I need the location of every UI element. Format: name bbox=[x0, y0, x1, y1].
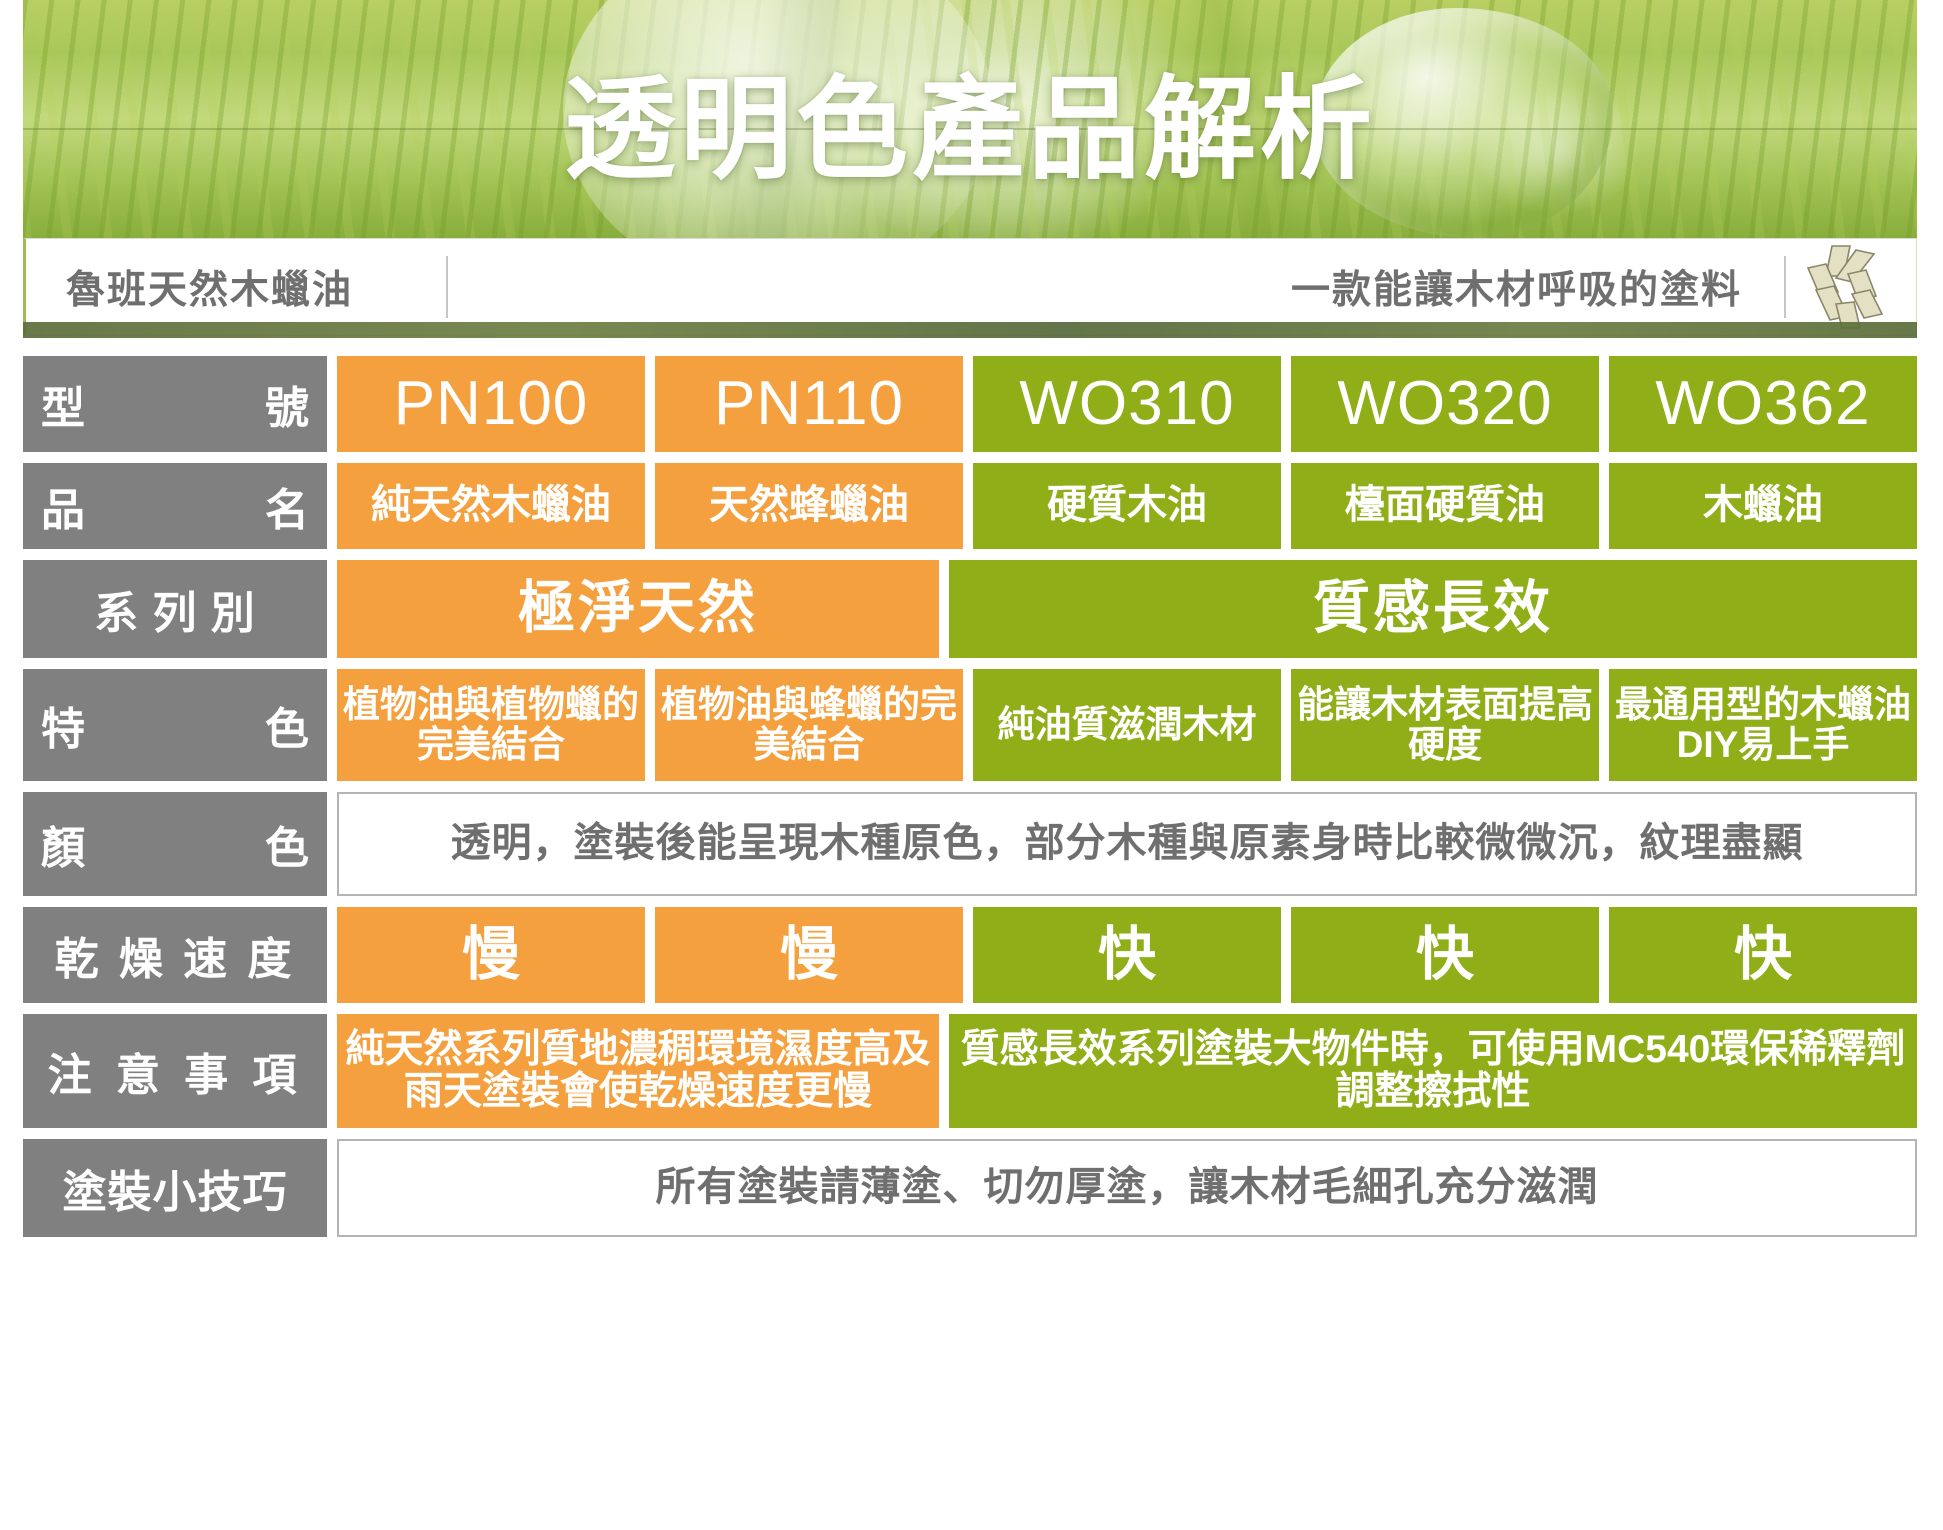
row-cells-color: 透明，塗裝後能呈現木種原色，部分木種與原素身時比較微微沉，紋理盡顯 bbox=[337, 792, 1917, 896]
cell-dry-wo320: 快 bbox=[1291, 907, 1599, 1003]
row-label-color-char1: 顏 bbox=[41, 812, 85, 876]
cell-feature-wo310: 純油質滋潤木材 bbox=[973, 669, 1281, 781]
cell-model-pn100: PN100 bbox=[337, 356, 645, 452]
table-row-series: 系 列 別 極淨天然 質感長效 bbox=[23, 560, 1917, 658]
cell-dry-wo362: 快 bbox=[1609, 907, 1917, 1003]
cell-name-wo320: 檯面硬質油 bbox=[1291, 463, 1599, 549]
table-row-notes: 注 意 事 項 純天然系列質地濃稠環境濕度高及雨天塗裝會使乾燥速度更慢 質感長效… bbox=[23, 1014, 1917, 1128]
row-cells-notes: 純天然系列質地濃稠環境濕度高及雨天塗裝會使乾燥速度更慢 質感長效系列塗裝大物件時… bbox=[337, 1014, 1917, 1128]
wood-cross-logo-icon bbox=[1786, 244, 1904, 330]
product-comparison-table: 型 號 PN100 PN110 WO310 WO320 WO362 品 名 純天… bbox=[23, 356, 1917, 1248]
cell-series-natural: 極淨天然 bbox=[337, 560, 939, 658]
row-label-notes: 注 意 事 項 bbox=[23, 1014, 327, 1128]
row-cells-product-name: 純天然木蠟油 天然蜂蠟油 硬質木油 檯面硬質油 木蠟油 bbox=[337, 463, 1917, 549]
row-cells-model: PN100 PN110 WO310 WO320 WO362 bbox=[337, 356, 1917, 452]
cell-series-durable: 質感長效 bbox=[949, 560, 1917, 658]
row-cells-feature: 植物油與植物蠟的完美結合 植物油與蜂蠟的完美結合 純油質滋潤木材 能讓木材表面提… bbox=[337, 669, 1917, 781]
row-label-name-char1: 品 bbox=[41, 474, 85, 538]
cell-model-pn110: PN110 bbox=[655, 356, 963, 452]
cell-name-wo362: 木蠟油 bbox=[1609, 463, 1917, 549]
cell-tips-description: 所有塗裝請薄塗、切勿厚塗，讓木材毛細孔充分滋潤 bbox=[337, 1139, 1917, 1237]
cell-name-pn110: 天然蜂蠟油 bbox=[655, 463, 963, 549]
table-row-color: 顏 色 透明，塗裝後能呈現木種原色，部分木種與原素身時比較微微沉，紋理盡顯 bbox=[23, 792, 1917, 896]
cell-feature-pn110: 植物油與蜂蠟的完美結合 bbox=[655, 669, 963, 781]
row-label-model-char1: 型 bbox=[41, 372, 85, 436]
table-row-drying-speed: 乾 燥 速 度 慢 慢 快 快 快 bbox=[23, 907, 1917, 1003]
cell-feature-wo362: 最通用型的木蠟油DIY易上手 bbox=[1609, 669, 1917, 781]
cell-notes-durable-series: 質感長效系列塗裝大物件時，可使用MC540環保稀釋劑調整擦拭性 bbox=[949, 1014, 1917, 1128]
table-row-model: 型 號 PN100 PN110 WO310 WO320 WO362 bbox=[23, 356, 1917, 452]
row-label-name-char2: 名 bbox=[265, 474, 309, 538]
cell-dry-pn100: 慢 bbox=[337, 907, 645, 1003]
page-title: 透明色產品解析 bbox=[23, 0, 1917, 240]
row-label-model: 型 號 bbox=[23, 356, 327, 452]
cell-color-description: 透明，塗裝後能呈現木種原色，部分木種與原素身時比較微微沉，紋理盡顯 bbox=[337, 792, 1917, 896]
row-label-color-char2: 色 bbox=[265, 812, 309, 876]
row-label-tips: 塗裝小技巧 bbox=[23, 1139, 327, 1237]
row-label-product-name: 品 名 bbox=[23, 463, 327, 549]
table-row-product-name: 品 名 純天然木蠟油 天然蜂蠟油 硬質木油 檯面硬質油 木蠟油 bbox=[23, 463, 1917, 549]
cell-name-wo310: 硬質木油 bbox=[973, 463, 1281, 549]
cell-dry-pn110: 慢 bbox=[655, 907, 963, 1003]
row-label-feature: 特 色 bbox=[23, 669, 327, 781]
row-cells-drying-speed: 慢 慢 快 快 快 bbox=[337, 907, 1917, 1003]
row-label-feature-char1: 特 bbox=[41, 693, 85, 757]
cell-name-pn100: 純天然木蠟油 bbox=[337, 463, 645, 549]
table-row-tips: 塗裝小技巧 所有塗裝請薄塗、切勿厚塗，讓木材毛細孔充分滋潤 bbox=[23, 1139, 1917, 1237]
cell-feature-wo320: 能讓木材表面提高硬度 bbox=[1291, 669, 1599, 781]
cell-feature-pn100: 植物油與植物蠟的完美結合 bbox=[337, 669, 645, 781]
row-label-color: 顏 色 bbox=[23, 792, 327, 896]
row-label-feature-char2: 色 bbox=[265, 693, 309, 757]
row-label-series: 系 列 別 bbox=[23, 560, 327, 658]
hero-banner: 透明色產品解析 bbox=[23, 0, 1917, 240]
row-cells-tips: 所有塗裝請薄塗、切勿厚塗，讓木材毛細孔充分滋潤 bbox=[337, 1139, 1917, 1237]
cell-model-wo320: WO320 bbox=[1291, 356, 1599, 452]
row-label-model-char2: 號 bbox=[265, 372, 309, 436]
row-cells-series: 極淨天然 質感長效 bbox=[337, 560, 1917, 658]
brand-tagline: 一款能讓木材呼吸的塗料 bbox=[448, 259, 1784, 315]
product-comparison-page: 透明色產品解析 魯班天然木蠟油 一款能讓木材呼吸的塗料 bbox=[0, 0, 1943, 1530]
brand-name: 魯班天然木蠟油 bbox=[26, 259, 446, 315]
table-row-feature: 特 色 植物油與植物蠟的完美結合 植物油與蜂蠟的完美結合 純油質滋潤木材 能讓木… bbox=[23, 669, 1917, 781]
row-label-drying-speed: 乾 燥 速 度 bbox=[23, 907, 327, 1003]
cell-model-wo362: WO362 bbox=[1609, 356, 1917, 452]
cell-model-wo310: WO310 bbox=[973, 356, 1281, 452]
cell-dry-wo310: 快 bbox=[973, 907, 1281, 1003]
infobar-bottom-strip bbox=[23, 322, 1917, 338]
cell-notes-natural-series: 純天然系列質地濃稠環境濕度高及雨天塗裝會使乾燥速度更慢 bbox=[337, 1014, 939, 1128]
